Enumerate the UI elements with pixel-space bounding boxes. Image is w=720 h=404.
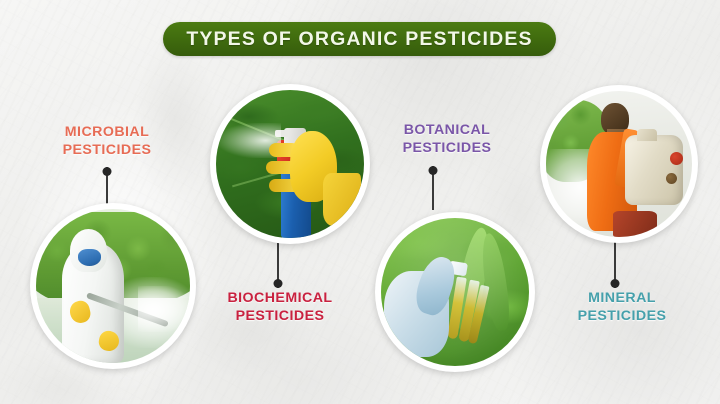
- photo-circle-mineral: [540, 85, 698, 243]
- photo-aerosol-can: [216, 90, 364, 238]
- connector-dot: [610, 279, 619, 288]
- label-line-2: PESTICIDES: [532, 308, 712, 326]
- scene-glove-cuff: [323, 173, 361, 226]
- connector-mineral: [610, 242, 619, 288]
- scene-spray-plume: [138, 286, 190, 332]
- connector-botanical: [428, 166, 437, 210]
- photo-circle-biochemical: [210, 84, 370, 244]
- connector-biochemical: [273, 243, 282, 288]
- page-title: TYPES OF ORGANIC PESTICIDES: [186, 28, 532, 51]
- scene-sprayer-tank: [625, 135, 683, 205]
- photo-test-tubes: [381, 218, 529, 366]
- infographic-canvas: TYPES OF ORGANIC PESTICIDES MICROBIAL PE…: [0, 0, 720, 404]
- label-botanical-pesticides: BOTANICAL PESTICIDES: [362, 122, 532, 157]
- scene-equipment-base: [613, 211, 657, 237]
- connector-dot: [273, 279, 282, 288]
- label-line-2: PESTICIDES: [362, 140, 532, 158]
- label-biochemical-pesticides: BIOCHEMICAL PESTICIDES: [190, 290, 370, 325]
- label-line-1: MICROBIAL: [22, 124, 192, 142]
- photo-circle-botanical: [375, 212, 535, 372]
- scene-blue-mask: [78, 249, 101, 266]
- photo-backpack-sprayer: [546, 91, 692, 237]
- label-mineral-pesticides: MINERAL PESTICIDES: [532, 290, 712, 325]
- label-microbial-pesticides: MICROBIAL PESTICIDES: [22, 124, 192, 159]
- photo-circle-microbial: [30, 203, 196, 369]
- label-line-1: MINERAL: [532, 290, 712, 308]
- label-line-1: BOTANICAL: [362, 122, 532, 140]
- photo-hazmat-sprayer: [36, 209, 190, 363]
- label-line-2: PESTICIDES: [22, 142, 192, 160]
- label-line-2: PESTICIDES: [190, 308, 370, 326]
- label-line-1: BIOCHEMICAL: [190, 290, 370, 308]
- connector-dot: [102, 167, 111, 176]
- connector-dot: [428, 166, 437, 175]
- title-banner: TYPES OF ORGANIC PESTICIDES: [163, 22, 556, 56]
- scene-tank-cap: [637, 129, 657, 141]
